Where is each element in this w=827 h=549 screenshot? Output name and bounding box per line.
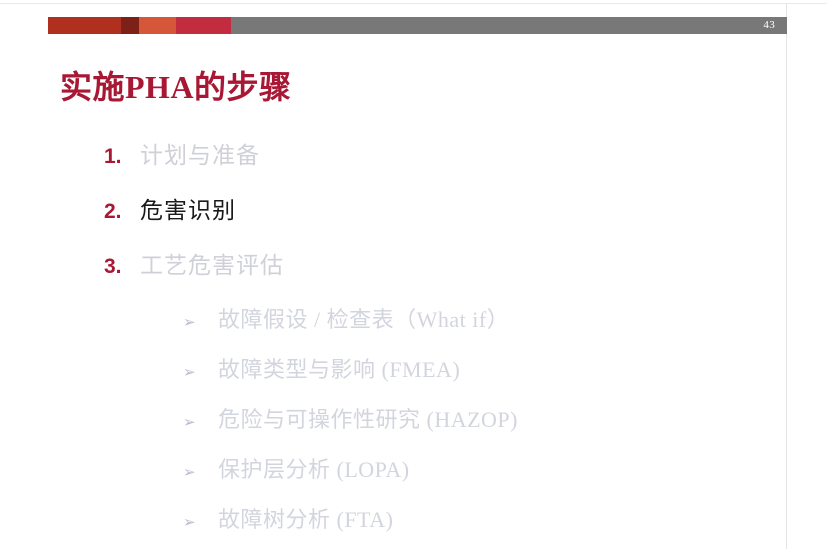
substep-label-1: 故障假设 / 检查表（What if） [218,302,509,334]
slide-right-border [786,3,787,549]
substep-item-2: ➢ 故障类型与影响 (FMEA) [183,352,783,402]
substep-label-5: 故障树分析 (FTA) [218,502,393,534]
header-accent-bar: 43 [48,17,787,34]
slide-top-border [0,3,827,4]
accent-segment-gray: 43 [231,17,787,34]
step-number-2: 2. [104,200,140,224]
arrow-bullet-icon: ➢ [183,315,218,330]
accent-segment-3 [139,17,176,34]
substep-label-3: 危险与可操作性研究 (HAZOP) [218,402,518,434]
step-number-1: 1. [104,145,140,169]
steps-list: 1. 计划与准备 2. 危害识别 3. 工艺危害评估 [104,136,764,301]
substep-item-3: ➢ 危险与可操作性研究 (HAZOP) [183,402,783,452]
step-item-3: 3. 工艺危害评估 [104,246,764,301]
accent-segment-1 [48,17,121,34]
arrow-bullet-icon: ➢ [183,415,218,430]
presentation-slide: 43 实施PHA的步骤 1. 计划与准备 2. 危害识别 3. 工艺危害评估 ➢… [0,0,827,549]
substeps-list: ➢ 故障假设 / 检查表（What if） ➢ 故障类型与影响 (FMEA) ➢… [183,302,783,549]
accent-segment-4 [176,17,231,34]
page-number: 43 [763,17,775,34]
step-label-2: 危害识别 [140,191,236,225]
step-item-1: 1. 计划与准备 [104,136,764,191]
step-label-1: 计划与准备 [140,136,260,170]
substep-item-5: ➢ 故障树分析 (FTA) [183,502,783,549]
substep-label-2: 故障类型与影响 (FMEA) [218,352,460,384]
page-title: 实施PHA的步骤 [60,62,292,108]
accent-segment-2 [121,17,139,34]
arrow-bullet-icon: ➢ [183,365,218,380]
step-number-3: 3. [104,255,140,279]
substep-item-4: ➢ 保护层分析 (LOPA) [183,452,783,502]
step-item-2: 2. 危害识别 [104,191,764,246]
substep-item-1: ➢ 故障假设 / 检查表（What if） [183,302,783,352]
arrow-bullet-icon: ➢ [183,465,218,480]
step-label-3: 工艺危害评估 [140,246,284,280]
arrow-bullet-icon: ➢ [183,515,218,530]
substep-label-4: 保护层分析 (LOPA) [218,452,410,484]
